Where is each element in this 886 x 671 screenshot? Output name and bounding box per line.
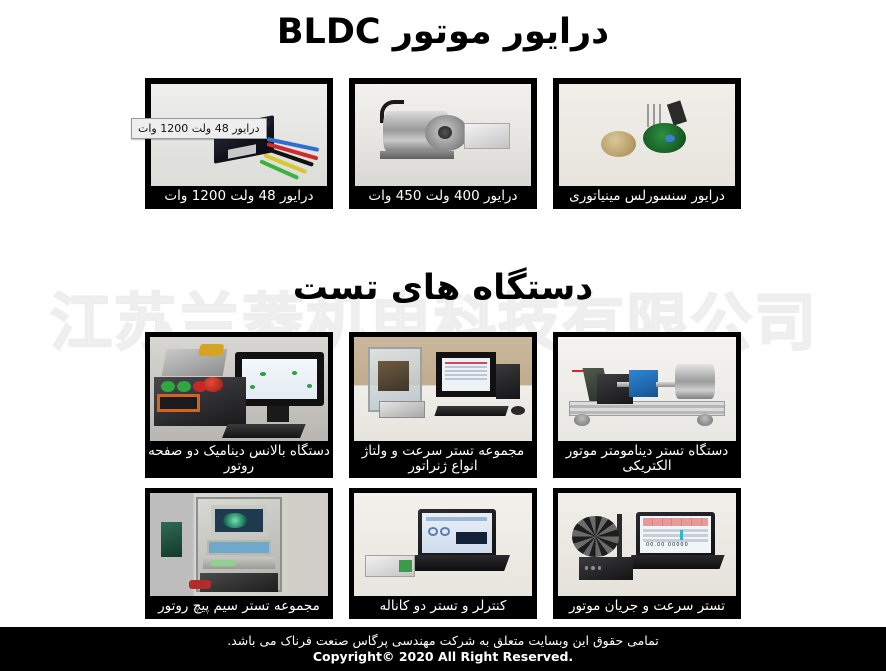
site-footer: تمامی حقوق این وبسایت متعلق به شرکت مهند… bbox=[0, 627, 886, 671]
product-card-electric-motor-dynamometer[interactable]: دستگاه تستر دینامومتر موتور الکتریکی bbox=[553, 332, 741, 478]
product-card-caption: تستر سرعت و جریان موتور bbox=[554, 596, 740, 618]
product-card-caption: درایور 400 ولت 450 وات bbox=[350, 186, 536, 208]
product-card-caption: دستگاه تستر دینامومتر موتور الکتریکی bbox=[554, 441, 740, 477]
page-root: 江苏兰菱机电科技有限公司 درایور موتور BLDC درایور 48… bbox=[0, 0, 886, 671]
product-card-two-channel-controller-tester[interactable]: کنترلر و تستر دو کاناله bbox=[349, 488, 537, 619]
dynamic-balance-machine-photo bbox=[150, 337, 328, 441]
product-card-caption: دستگاه بالانس دینامیک دو صفحه روتور bbox=[146, 441, 332, 477]
product-card-generator-speed-voltage-tester[interactable]: مجموعه تستر سرعت و ولتاژ انواع ژنراتور bbox=[349, 332, 537, 478]
electric-motor-dynamometer-photo bbox=[558, 337, 736, 441]
test-equipment-card-row-2: مجموعه تستر سیم پیچ روتور کنترلر و تستر … bbox=[145, 488, 741, 619]
rotor-winding-tester-photo bbox=[150, 493, 328, 596]
product-card-dynamic-balance-machine[interactable]: دستگاه بالانس دینامیک دو صفحه روتور bbox=[145, 332, 333, 478]
product-card-caption: مجموعه تستر سرعت و ولتاژ انواع ژنراتور bbox=[350, 441, 536, 477]
product-card-caption: درایور 48 ولت 1200 وات bbox=[146, 186, 332, 208]
tester-readout: 00000 00.00 bbox=[646, 542, 689, 548]
section-title-test-equipment: دستگاه های تست bbox=[0, 268, 886, 308]
product-card-rotor-winding-tester[interactable]: مجموعه تستر سیم پیچ روتور bbox=[145, 488, 333, 619]
driver-400v-450w-photo bbox=[355, 84, 531, 186]
product-card-miniature-sensorless-driver[interactable]: درایور سنسورلس مینیاتوری bbox=[553, 78, 741, 209]
product-card-driver-48v-1200w[interactable]: درایور 48 ولت 1200 وات bbox=[145, 78, 333, 209]
section-title-bldc-drivers: درایور موتور BLDC bbox=[0, 12, 886, 52]
motor-speed-current-tester-photo: 00000 00.00 bbox=[558, 493, 736, 596]
footer-copyright-en: Copyright© 2020 All Right Reserved. bbox=[0, 649, 886, 665]
product-card-driver-400v-450w[interactable]: درایور 400 ولت 450 وات bbox=[349, 78, 537, 209]
product-card-motor-speed-current-tester[interactable]: 00000 00.00 تستر سرعت و جریان موتور bbox=[553, 488, 741, 619]
miniature-sensorless-driver-photo bbox=[559, 84, 735, 186]
generator-speed-voltage-tester-photo bbox=[354, 337, 532, 441]
product-card-caption: درایور سنسورلس مینیاتوری bbox=[554, 186, 740, 208]
bldc-driver-card-row: درایور 48 ولت 1200 وات درایور 400 ولت 45… bbox=[145, 78, 741, 209]
footer-copyright-fa: تمامی حقوق این وبسایت متعلق به شرکت مهند… bbox=[0, 632, 886, 649]
product-card-caption: کنترلر و تستر دو کاناله bbox=[350, 596, 536, 618]
product-card-caption: مجموعه تستر سیم پیچ روتور bbox=[146, 596, 332, 618]
test-equipment-card-row-1: دستگاه بالانس دینامیک دو صفحه روتور مجمو… bbox=[145, 332, 741, 478]
product-tooltip: درایور 48 ولت 1200 وات bbox=[131, 118, 267, 139]
two-channel-controller-tester-photo bbox=[354, 493, 532, 596]
